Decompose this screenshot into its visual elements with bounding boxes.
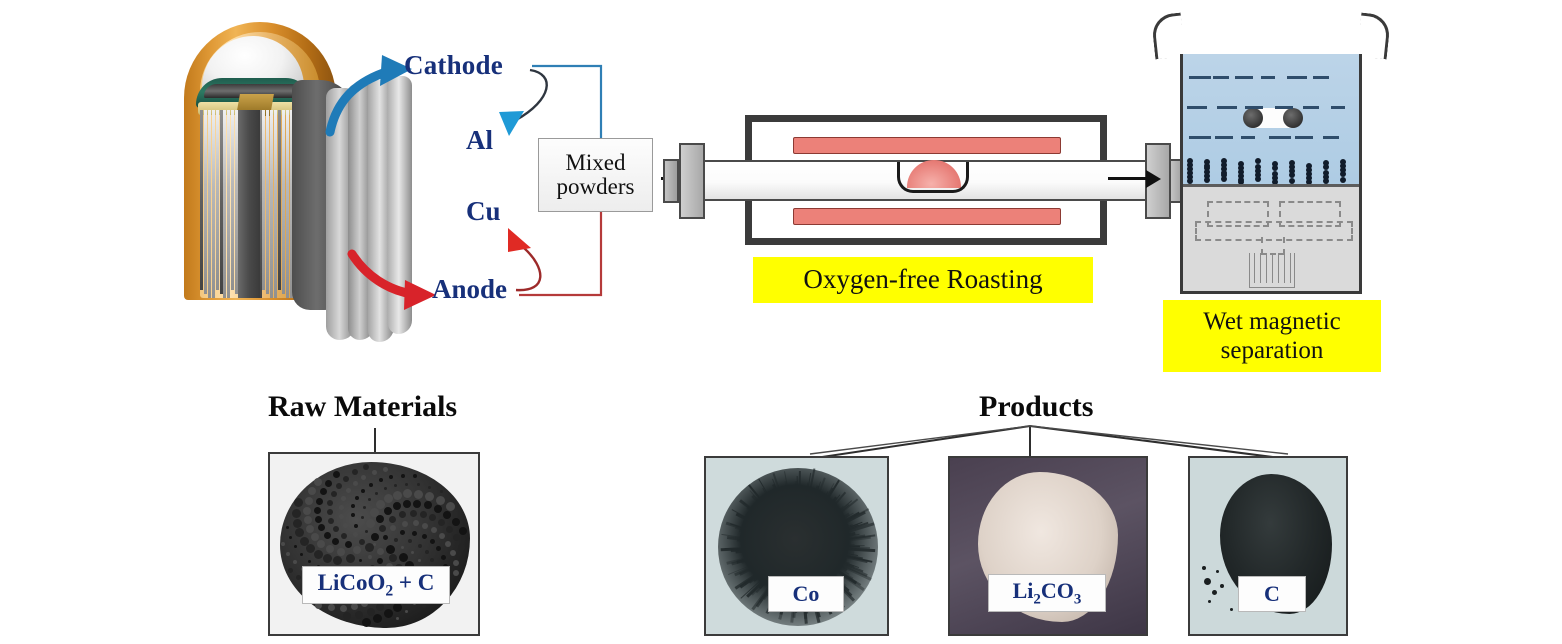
mixed-powders-label: Mixedpowders — [557, 151, 635, 199]
cathode-to-al-hook — [516, 70, 547, 120]
raw-powder-grains — [270, 454, 478, 634]
oxygen-free-roasting-label: Oxygen-free Roasting — [753, 257, 1093, 303]
product-label-lithium-carbonate: Li2CO3 — [988, 574, 1106, 612]
anode-route-line — [519, 210, 601, 295]
magnet-coil — [1249, 253, 1295, 288]
sample-boat — [897, 169, 969, 193]
process-diagram: Cathode Al Cu Anode Mixedpowders — [0, 0, 1562, 644]
products-connector-right-2 — [1030, 426, 1288, 454]
anode-label: Anode — [432, 274, 507, 305]
product-photo-lithium-carbonate: Li2CO3 — [948, 456, 1148, 636]
copper-label: Cu — [466, 196, 501, 227]
aluminium-label: Al — [466, 125, 493, 156]
furnace-cap-left — [663, 159, 679, 203]
al-arrow-head — [499, 111, 524, 136]
wet-sep-line2: separation — [1221, 337, 1324, 364]
products-connector-left — [802, 426, 1030, 460]
wet-magnetic-separation-label: Wet magnetic separation — [1163, 300, 1381, 372]
electrode-core — [238, 110, 260, 298]
separation-vessel — [1155, 14, 1390, 304]
tube-furnace — [745, 115, 1107, 245]
cathode-route-line — [532, 66, 601, 139]
raw-material-photo: LiCoO2 + C — [268, 452, 480, 636]
heating-element-top — [793, 137, 1061, 154]
raw-materials-heading: Raw Materials — [268, 390, 457, 424]
product-label-carbon: C — [1238, 576, 1306, 612]
anode-to-cu-hook — [516, 248, 540, 290]
wet-sep-line1: Wet magnetic — [1203, 308, 1341, 335]
electrode-roll-5 — [388, 76, 412, 334]
beaker-lip-right — [1357, 13, 1391, 60]
beaker-sediment-zone — [1183, 184, 1359, 291]
products-heading: Products — [979, 390, 1093, 424]
magnetic-stir-bar — [1245, 108, 1301, 128]
arrow-to-separation-line — [1108, 177, 1148, 180]
cathode-label: Cathode — [404, 50, 503, 81]
mixed-powders-box: Mixedpowders — [538, 138, 653, 212]
products-connector-left-2 — [810, 426, 1030, 454]
beaker-lip-left — [1151, 13, 1185, 60]
heating-element-bottom — [793, 208, 1061, 225]
products-connector-right — [1030, 426, 1296, 460]
product-photo-carbon: C — [1188, 456, 1348, 636]
raw-connector-line — [374, 428, 376, 454]
furnace-flange-left — [679, 143, 705, 219]
product-label-cobalt: Co — [768, 576, 844, 612]
raw-material-label: LiCoO2 + C — [302, 566, 450, 604]
beaker-liquid — [1183, 54, 1359, 184]
beaker-body — [1180, 54, 1362, 294]
product-photo-cobalt: Co — [704, 456, 889, 636]
cu-arrow-head — [508, 228, 531, 252]
